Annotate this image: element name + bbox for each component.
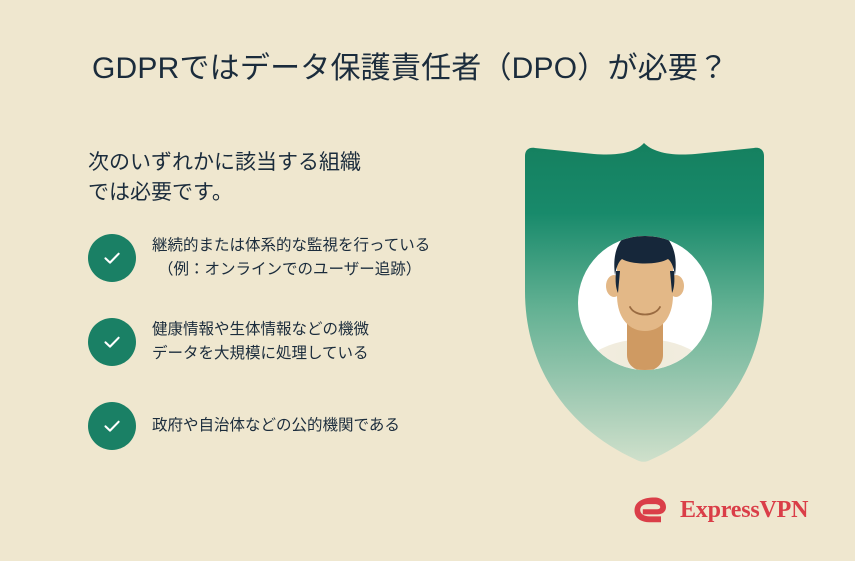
list-item: 政府や自治体などの公的機関である <box>88 402 528 450</box>
page-title: GDPRではデータ保護責任者（DPO）が必要？ <box>92 47 792 91</box>
list-item: 継続的または体系的な監視を行っている （例：オンラインでのユーザー追跡） <box>88 234 528 282</box>
list-item-line-1: 政府や自治体などの公的機関である <box>152 414 400 438</box>
expressvpn-e-mark-icon <box>634 492 670 528</box>
subtitle: 次のいずれかに該当する組織 では必要です。 <box>88 148 528 208</box>
expressvpn-wordmark: ExpressVPN <box>680 498 808 522</box>
subtitle-line-1: 次のいずれかに該当する組織 <box>88 148 528 178</box>
list-item-text: 継続的または体系的な監視を行っている （例：オンラインでのユーザー追跡） <box>152 234 430 282</box>
list-item-text: 健康情報や生体情報などの機微 データを大規模に処理している <box>152 318 369 366</box>
list-item: 健康情報や生体情報などの機微 データを大規模に処理している <box>88 318 528 366</box>
expressvpn-mark-path <box>635 498 667 523</box>
criteria-list: 継続的または体系的な監視を行っている （例：オンラインでのユーザー追跡） 健康情… <box>88 234 528 450</box>
list-item-line-2: データを大規模に処理している <box>152 342 369 366</box>
content-column: 次のいずれかに該当する組織 では必要です。 継続的または体系的な監視を行っている… <box>88 148 528 450</box>
expressvpn-logo: ExpressVPN <box>634 492 808 528</box>
list-item-line-1: 健康情報や生体情報などの機微 <box>152 318 369 342</box>
check-icon <box>88 318 136 366</box>
list-item-line-1: 継続的または体系的な監視を行っている <box>152 234 430 258</box>
check-icon <box>88 234 136 282</box>
subtitle-line-2: では必要です。 <box>88 178 528 208</box>
list-item-line-2: （例：オンラインでのユーザー追跡） <box>152 258 430 282</box>
check-icon <box>88 402 136 450</box>
shield-illustration <box>508 143 788 468</box>
infographic-canvas: GDPRではデータ保護責任者（DPO）が必要？ 次のいずれかに該当する組織 では… <box>0 0 855 561</box>
list-item-text: 政府や自治体などの公的機関である <box>152 402 400 438</box>
